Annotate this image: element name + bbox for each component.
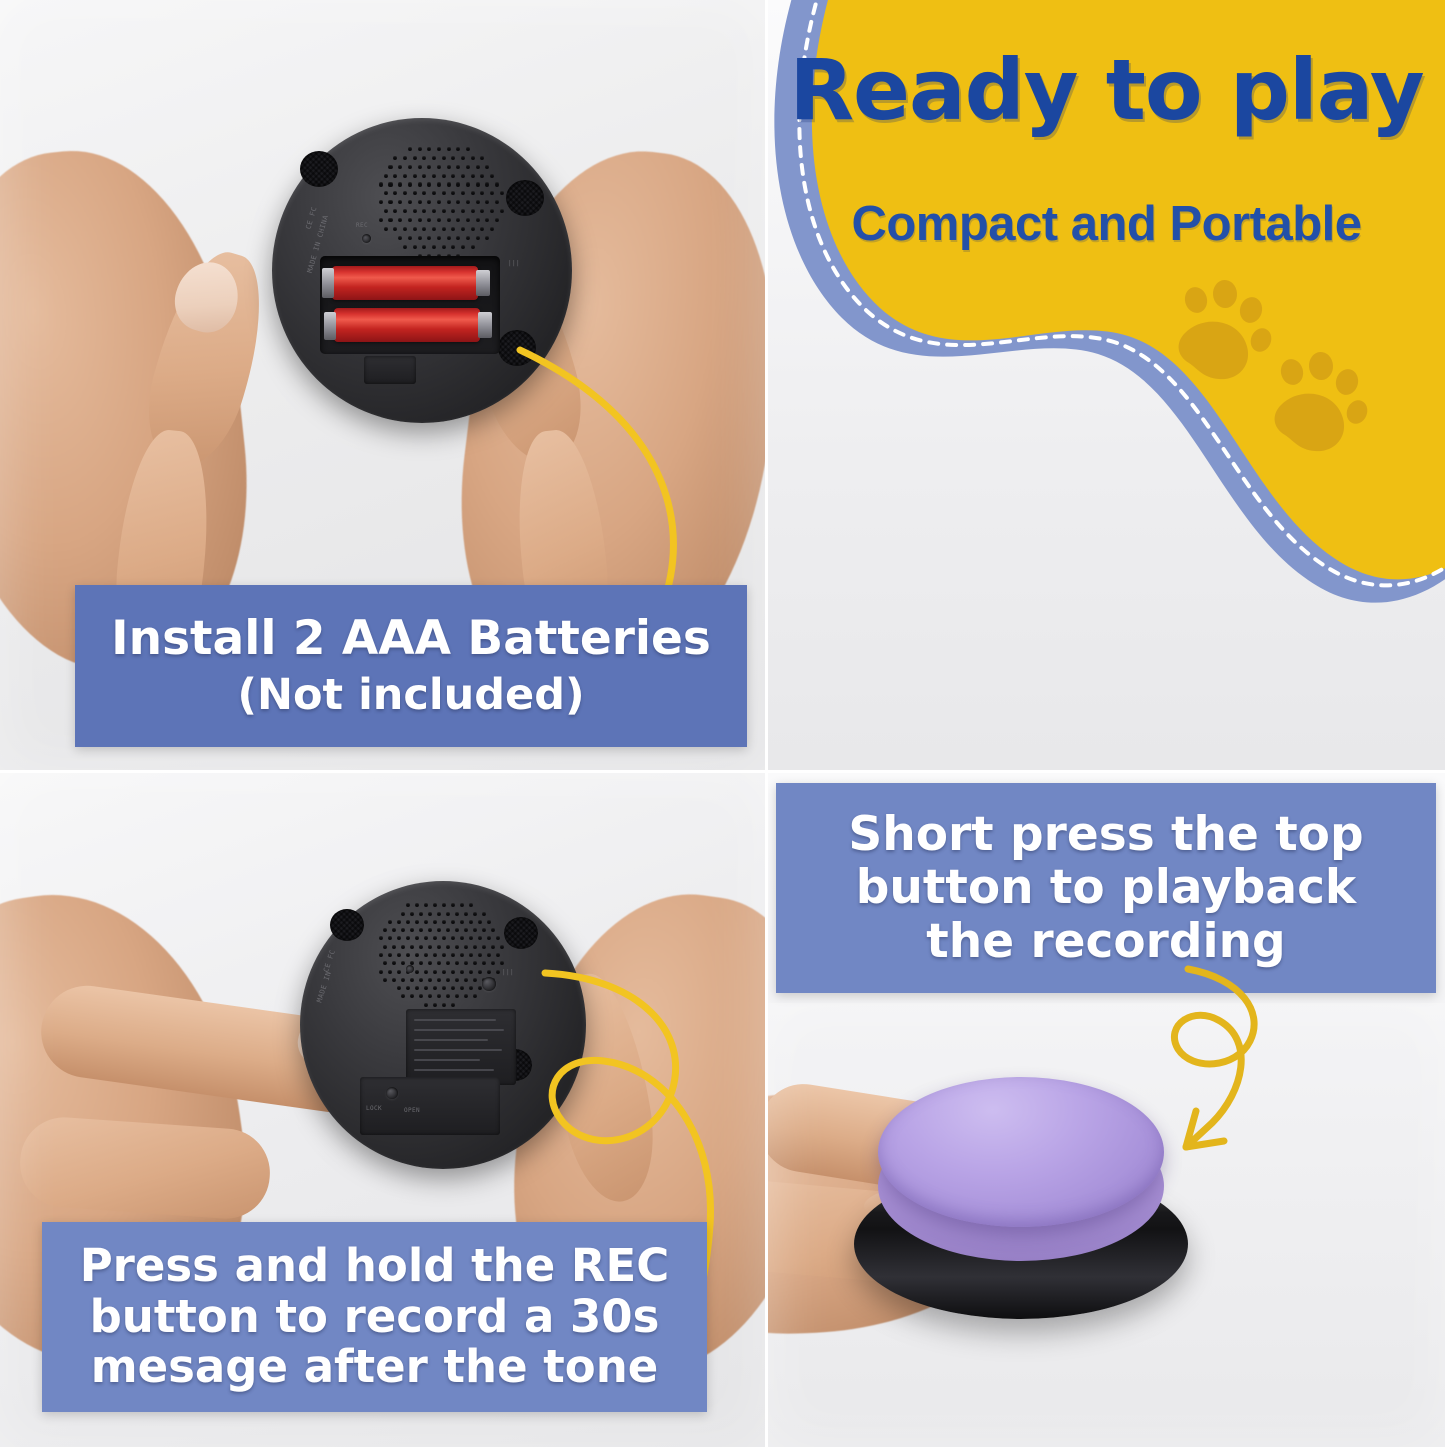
speaker-hole [487, 936, 491, 940]
speaker-hole [480, 209, 484, 213]
speaker-hole [446, 945, 450, 949]
speaker-hole [460, 903, 464, 907]
speaker-hole [418, 218, 422, 222]
speaker-hole [397, 970, 401, 974]
speaker-hole [495, 218, 499, 222]
speaker-hole [422, 174, 426, 178]
speaker-hole [447, 147, 451, 151]
speaker-hole [487, 920, 491, 924]
speaker-hole [451, 227, 455, 231]
speaker-hole [455, 994, 459, 998]
speaker-hole [415, 903, 419, 907]
rubber-foot [330, 909, 364, 941]
speaker-hole [383, 928, 387, 932]
speaker-hole [397, 986, 401, 990]
speaker-hole [384, 227, 388, 231]
speaker-hole [403, 156, 407, 160]
rec-button[interactable] [406, 965, 414, 973]
speaker-hole [403, 209, 407, 213]
panel-headline: Ready to play Compact and Portable [768, 0, 1445, 770]
speaker-hole [408, 218, 412, 222]
speaker-hole [418, 182, 422, 186]
speaker-hole [432, 227, 436, 231]
speaker-hole [451, 156, 455, 160]
speaker-hole [464, 961, 468, 965]
speaker-hole [485, 200, 489, 204]
speaker-hole [398, 165, 402, 169]
battery-door-tab [364, 356, 416, 384]
speaker-hole [408, 200, 412, 204]
speaker-hole [456, 182, 460, 186]
speaker-hole [469, 920, 473, 924]
speaker-hole [392, 961, 396, 965]
speaker-hole [419, 978, 423, 982]
speaker-hole [437, 182, 441, 186]
paw-print-icon [1179, 279, 1275, 379]
speaker-hole [442, 245, 446, 249]
speaker-hole [379, 182, 383, 186]
speaker-hole [469, 986, 473, 990]
speaker-hole [379, 970, 383, 974]
speaker-hole [476, 236, 480, 240]
paw-prints-decoration [1163, 275, 1393, 455]
speaker-hole [413, 191, 417, 195]
speaker-hole [392, 978, 396, 982]
left-lower-finger [17, 1114, 273, 1221]
door-marking-lock: LOCK [366, 1105, 382, 1112]
speaker-hole [401, 912, 405, 916]
speaker-hole [476, 165, 480, 169]
speaker-hole [428, 994, 432, 998]
speaker-hole [491, 961, 495, 965]
speaker-hole [433, 1003, 437, 1007]
speaker-hole [392, 945, 396, 949]
speaker-hole [428, 961, 432, 965]
device-marking-side: ||| [508, 260, 520, 267]
device-marking-rec: REC [356, 222, 368, 229]
speaker-hole [415, 986, 419, 990]
speaker-hole [415, 953, 419, 957]
speaker-hole [398, 200, 402, 204]
speaker-hole [406, 920, 410, 924]
speaker-hole [447, 236, 451, 240]
speaker-hole [403, 227, 407, 231]
speaker-hole [406, 903, 410, 907]
speaker-hole [487, 970, 491, 974]
speaker-hole [469, 953, 473, 957]
speaker-hole [451, 209, 455, 213]
speaker-hole [424, 1003, 428, 1007]
speaker-hole [447, 218, 451, 222]
speaker-hole [476, 200, 480, 204]
speaker-hole [433, 903, 437, 907]
caption-playback-line3: the recording [776, 915, 1436, 968]
speaker-hole [451, 970, 455, 974]
speaker-hole [422, 209, 426, 213]
speaker-hole [478, 936, 482, 940]
speaker-hole [473, 961, 477, 965]
infographic-page: CE FC MADE IN CHINA REC ||| [0, 0, 1445, 1447]
rec-button[interactable] [362, 234, 371, 243]
speaker-grille [376, 897, 504, 1007]
speaker-hole [451, 903, 455, 907]
speaker-hole [415, 970, 419, 974]
speaker-hole [469, 936, 473, 940]
speaker-hole [464, 978, 468, 982]
speaker-hole [500, 961, 504, 965]
speaker-hole [442, 1003, 446, 1007]
answer-button-dome[interactable] [878, 1077, 1164, 1227]
speaker-hole [422, 227, 426, 231]
speaker-hole [473, 994, 477, 998]
speaker-hole [437, 200, 441, 204]
speaker-hole [393, 227, 397, 231]
speaker-hole [490, 209, 494, 213]
speaker-hole [393, 191, 397, 195]
speaker-hole [413, 209, 417, 213]
speaker-hole [464, 945, 468, 949]
speaker-hole [432, 209, 436, 213]
speaker-hole [480, 156, 484, 160]
speaker-hole [461, 227, 465, 231]
speaker-hole [428, 978, 432, 982]
speaker-hole [478, 970, 482, 974]
speaker-hole [478, 986, 482, 990]
battery-cell [332, 266, 478, 300]
speaker-hole [476, 182, 480, 186]
speaker-hole [433, 970, 437, 974]
battery-cell [334, 308, 480, 342]
speaker-hole [451, 1003, 455, 1007]
caption-battery-line1: Install 2 AAA Batteries [75, 612, 747, 665]
caption-playback-line1: Short press the top [776, 808, 1436, 861]
speaker-hole [424, 903, 428, 907]
speaker-hole [490, 191, 494, 195]
speaker-hole [403, 174, 407, 178]
speaker-hole [432, 191, 436, 195]
speaker-hole [437, 928, 441, 932]
speaker-hole [496, 936, 500, 940]
speaker-hole [456, 218, 460, 222]
speaker-hole [393, 156, 397, 160]
speaker-hole [500, 945, 504, 949]
speaker-hole [476, 218, 480, 222]
speaker-hole [422, 156, 426, 160]
speaker-hole [482, 912, 486, 916]
speaker-hole [473, 945, 477, 949]
speaker-hole [480, 191, 484, 195]
speaker-hole [397, 953, 401, 957]
speaker-hole [460, 986, 464, 990]
speaker-hole [500, 209, 504, 213]
speaker-hole [437, 236, 441, 240]
speaker-hole [456, 200, 460, 204]
rubber-foot [504, 917, 538, 949]
speaker-hole [401, 928, 405, 932]
speaker-hole [383, 945, 387, 949]
speaker-hole [460, 953, 464, 957]
speaker-hole [379, 953, 383, 957]
speaker-hole [401, 978, 405, 982]
speaker-hole [388, 953, 392, 957]
speaker-hole [461, 174, 465, 178]
speaker-hole [419, 928, 423, 932]
panel-battery-install: CE FC MADE IN CHINA REC ||| [0, 0, 765, 770]
speaker-hole [422, 191, 426, 195]
caption-battery-line2: (Not included) [75, 671, 747, 720]
speaker-hole [392, 928, 396, 932]
speaker-hole [424, 920, 428, 924]
speaker-hole [432, 174, 436, 178]
speaker-hole [447, 182, 451, 186]
speaker-hole [451, 245, 455, 249]
speaker-hole [424, 936, 428, 940]
panel-playback: Short press the top button to playback t… [768, 773, 1445, 1447]
speaker-hole [419, 994, 423, 998]
speaker-hole [437, 218, 441, 222]
speaker-hole [388, 165, 392, 169]
speaker-hole [473, 978, 477, 982]
speaker-hole [451, 174, 455, 178]
speaker-hole [471, 209, 475, 213]
playback-button[interactable] [482, 977, 496, 991]
speaker-hole [495, 182, 499, 186]
device-marking-origin: MADE IN [315, 970, 333, 1003]
speaker-hole [442, 953, 446, 957]
speaker-hole [427, 218, 431, 222]
speaker-hole [456, 236, 460, 240]
screw-hole [386, 1087, 398, 1099]
speaker-hole [427, 236, 431, 240]
instruction-label [406, 1009, 516, 1085]
speaker-hole [442, 156, 446, 160]
speaker-hole [437, 945, 441, 949]
speaker-hole [471, 191, 475, 195]
speaker-hole [406, 953, 410, 957]
speaker-hole [490, 227, 494, 231]
speaker-hole [482, 928, 486, 932]
speaker-hole [428, 928, 432, 932]
speaker-hole [455, 945, 459, 949]
speaker-hole [401, 945, 405, 949]
speaker-hole [379, 218, 383, 222]
speaker-hole [437, 912, 441, 916]
speaker-hole [397, 920, 401, 924]
caption-record-line2: button to record a 30s [42, 1292, 707, 1343]
speaker-hole [418, 147, 422, 151]
battery-terminal [322, 268, 334, 298]
speaker-hole [471, 245, 475, 249]
speaker-hole [383, 961, 387, 965]
speaker-hole [471, 156, 475, 160]
speaker-hole [384, 174, 388, 178]
speaker-hole [410, 994, 414, 998]
speaker-hole [413, 227, 417, 231]
speaker-hole [427, 182, 431, 186]
speaker-hole [451, 191, 455, 195]
speaker-hole [466, 218, 470, 222]
paw-print-icon [1275, 351, 1371, 451]
speaker-hole [464, 994, 468, 998]
speaker-hole [461, 245, 465, 249]
speaker-hole [413, 156, 417, 160]
speaker-hole [427, 165, 431, 169]
speaker-hole [451, 953, 455, 957]
speaker-hole [393, 209, 397, 213]
speaker-hole [469, 970, 473, 974]
speaker-hole [490, 174, 494, 178]
speaker-hole [419, 945, 423, 949]
speaker-hole [408, 236, 412, 240]
speaker-hole [384, 191, 388, 195]
speaker-hole [500, 191, 504, 195]
speaker-hole [482, 945, 486, 949]
speaker-hole [485, 182, 489, 186]
device-back-disc: CE FC MADE IN ||| LOCK OPEN [300, 881, 586, 1169]
speaker-hole [379, 936, 383, 940]
speaker-hole [398, 236, 402, 240]
speaker-hole [397, 936, 401, 940]
caption-playback-line2: button to playback [776, 861, 1436, 914]
device-marking-side: ||| [502, 969, 514, 976]
speaker-hole [383, 978, 387, 982]
battery-terminal [476, 270, 490, 296]
speaker-hole [491, 928, 495, 932]
speaker-hole [388, 920, 392, 924]
speaker-hole [478, 953, 482, 957]
speaker-hole [398, 182, 402, 186]
speaker-hole [466, 147, 470, 151]
speaker-hole [401, 961, 405, 965]
speaker-hole [455, 928, 459, 932]
speaker-hole [432, 245, 436, 249]
caption-record-line3: mesage after the tone [42, 1342, 707, 1393]
speaker-hole [485, 165, 489, 169]
speaker-hole [442, 903, 446, 907]
speaker-hole [410, 928, 414, 932]
speaker-hole [433, 986, 437, 990]
speaker-hole [424, 953, 428, 957]
speaker-hole [451, 936, 455, 940]
speaker-hole [456, 147, 460, 151]
speaker-hole [485, 218, 489, 222]
speaker-hole [432, 156, 436, 160]
battery-terminal [324, 312, 336, 340]
speaker-hole [496, 953, 500, 957]
rubber-foot [498, 330, 536, 366]
speaker-hole [442, 970, 446, 974]
speaker-hole [487, 953, 491, 957]
speaker-hole [482, 961, 486, 965]
speaker-hole [410, 978, 414, 982]
speaker-hole [418, 236, 422, 240]
battery-compartment [320, 256, 500, 354]
speaker-hole [388, 218, 392, 222]
speaker-hole [388, 182, 392, 186]
speaker-hole [466, 236, 470, 240]
speaker-hole [413, 245, 417, 249]
speaker-hole [460, 970, 464, 974]
speaker-hole [455, 961, 459, 965]
speaker-hole [403, 191, 407, 195]
caption-record-line1: Press and hold the REC [42, 1241, 707, 1292]
speaker-hole [433, 920, 437, 924]
speaker-hole [495, 200, 499, 204]
speaker-hole [442, 174, 446, 178]
speaker-hole [408, 165, 412, 169]
speaker-hole [419, 912, 423, 916]
speaker-hole [464, 912, 468, 916]
speaker-hole [461, 156, 465, 160]
speaker-grille [376, 140, 506, 260]
caption-playback: Short press the top button to playback t… [776, 783, 1436, 993]
speaker-hole [427, 200, 431, 204]
battery-terminal [478, 312, 492, 338]
speaker-hole [437, 961, 441, 965]
speaker-hole [406, 936, 410, 940]
speaker-hole [384, 209, 388, 213]
speaker-hole [471, 174, 475, 178]
speaker-hole [451, 920, 455, 924]
speaker-hole [461, 191, 465, 195]
speaker-hole [427, 147, 431, 151]
speaker-hole [485, 236, 489, 240]
speaker-hole [418, 200, 422, 204]
door-marking-open: OPEN [404, 1107, 420, 1114]
speaker-hole [428, 945, 432, 949]
speaker-hole [398, 218, 402, 222]
speaker-hole [437, 165, 441, 169]
speaker-hole [413, 174, 417, 178]
speaker-hole [415, 936, 419, 940]
speaker-hole [419, 961, 423, 965]
speaker-hole [464, 928, 468, 932]
speaker-hole [406, 986, 410, 990]
page-subtitle: Compact and Portable [768, 196, 1445, 252]
caption-battery: Install 2 AAA Batteries (Not included) [75, 585, 747, 747]
speaker-hole [469, 903, 473, 907]
speaker-hole [491, 945, 495, 949]
speaker-hole [442, 209, 446, 213]
speaker-hole [466, 200, 470, 204]
speaker-hole [466, 182, 470, 186]
speaker-hole [437, 994, 441, 998]
speaker-hole [455, 978, 459, 982]
speaker-hole [428, 912, 432, 916]
speaker-hole [388, 970, 392, 974]
speaker-hole [446, 928, 450, 932]
speaker-hole [437, 978, 441, 982]
speaker-hole [418, 165, 422, 169]
speaker-hole [478, 920, 482, 924]
speaker-hole [442, 920, 446, 924]
speaker-hole [473, 912, 477, 916]
speaker-hole [424, 986, 428, 990]
rubber-foot [300, 151, 338, 187]
speaker-hole [496, 970, 500, 974]
speaker-hole [408, 147, 412, 151]
speaker-hole [422, 245, 426, 249]
speaker-hole [456, 165, 460, 169]
speaker-hole [410, 945, 414, 949]
speaker-hole [455, 912, 459, 916]
speaker-hole [460, 920, 464, 924]
caption-record-bar: Press and hold the REC button to record … [42, 1222, 707, 1412]
speaker-hole [446, 961, 450, 965]
speaker-hole [480, 227, 484, 231]
speaker-hole [408, 182, 412, 186]
speaker-hole [446, 978, 450, 982]
